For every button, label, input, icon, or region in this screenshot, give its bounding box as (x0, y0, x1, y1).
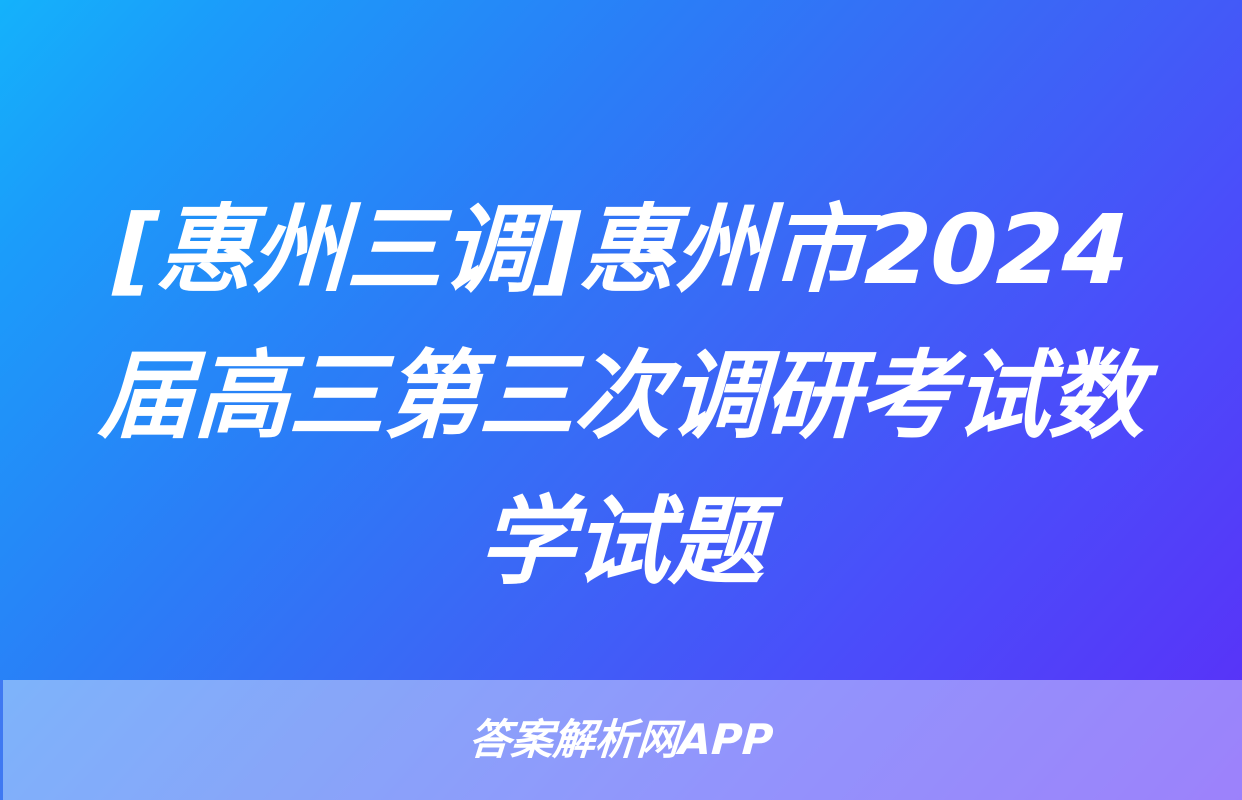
title-line-3: 学试题 (476, 469, 766, 615)
watermark-label: 答案解析网APP (467, 716, 774, 764)
footer-watermark-band: 答案解析网APP (0, 680, 1242, 800)
title-line-1: [惠州三调]惠州市2024 (111, 177, 1130, 323)
poster-canvas: [惠州三调]惠州市2024 届高三第三次调研考试数 学试题 答案解析网APP (0, 0, 1242, 800)
title-line-2: 届高三第三次调研考试数 (96, 323, 1146, 469)
footer-edge-strip (0, 680, 3, 800)
page-title: [惠州三调]惠州市2024 届高三第三次调研考试数 学试题 (0, 176, 1242, 616)
